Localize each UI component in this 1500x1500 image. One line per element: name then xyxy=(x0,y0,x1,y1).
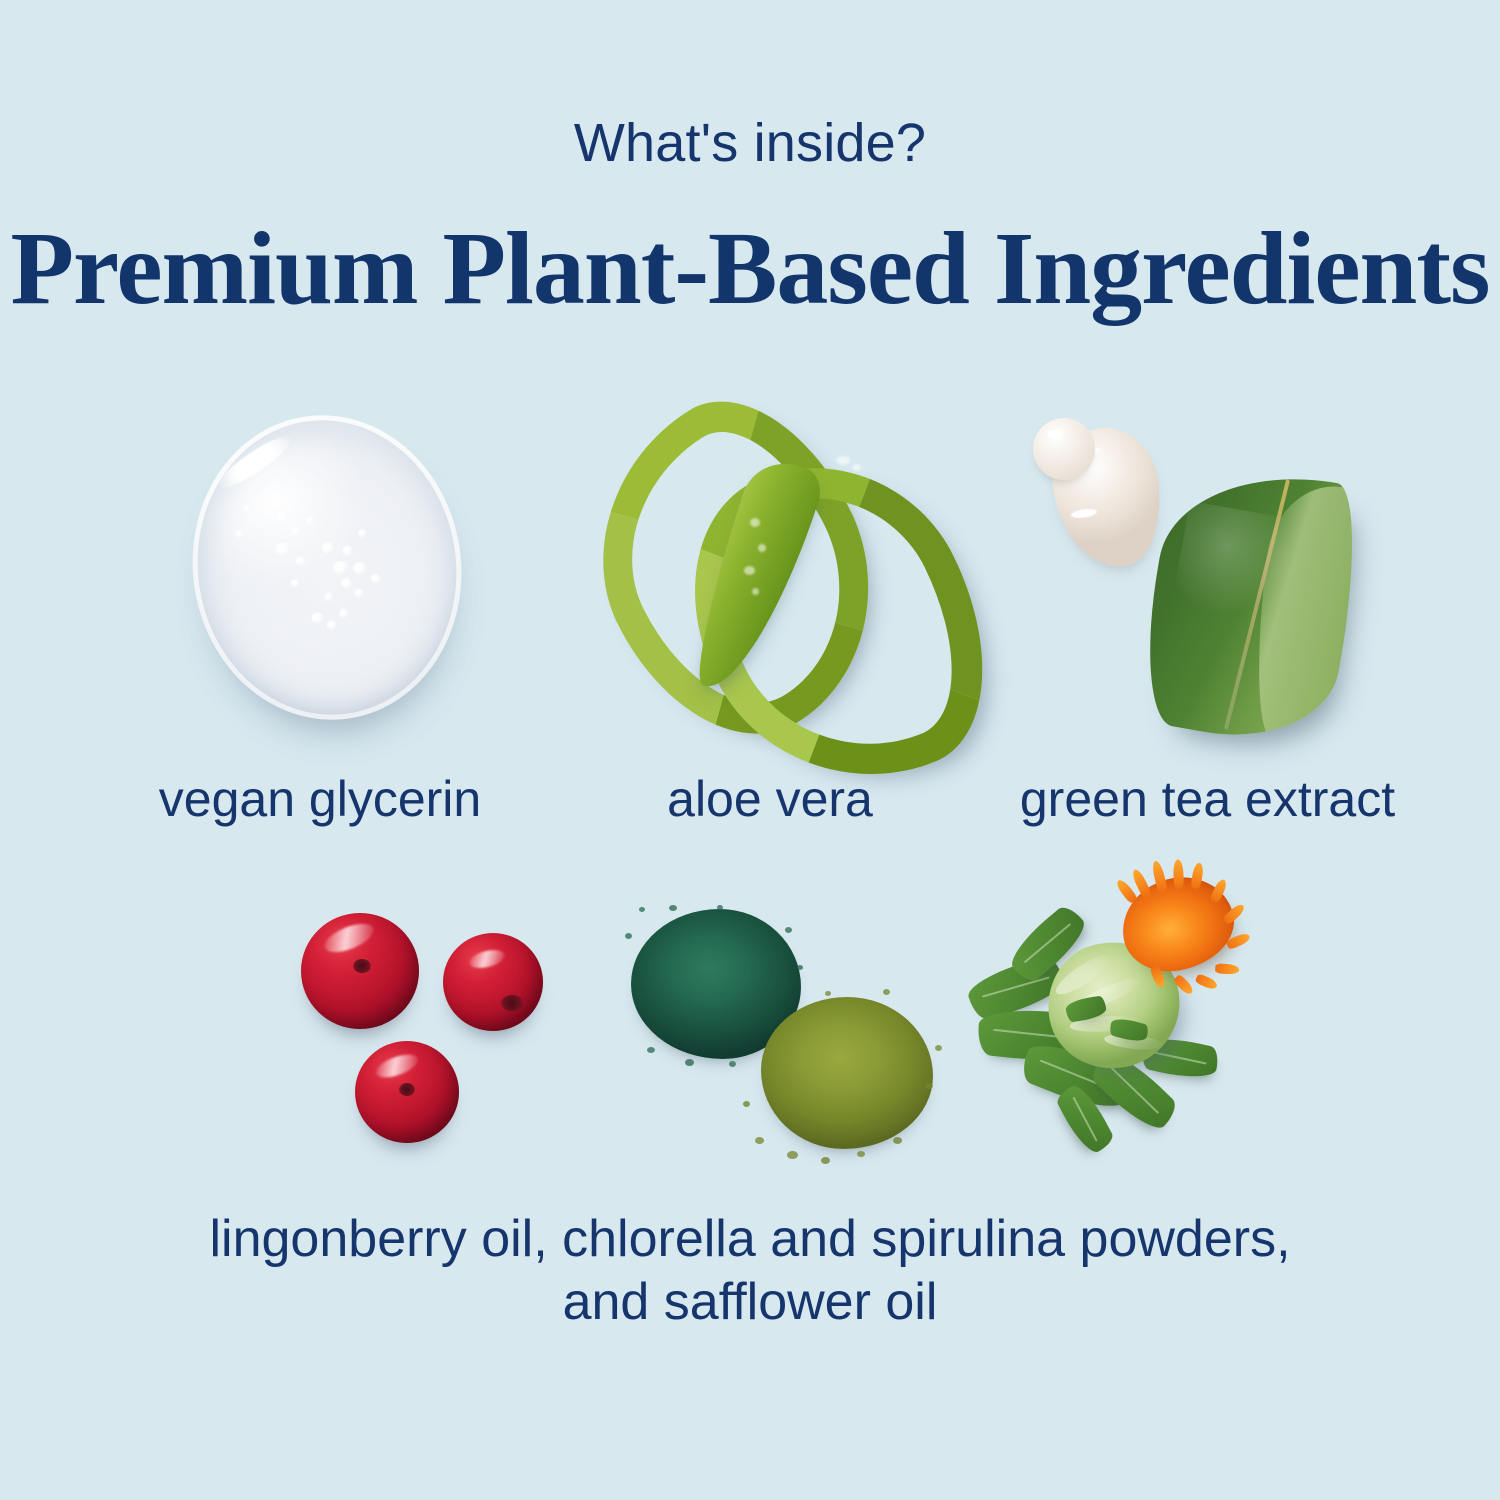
page-title: Premium Plant-Based Ingredients xyxy=(0,214,1500,323)
bottom-caption: lingonberry oil, chlorella and spirulina… xyxy=(70,1208,1430,1335)
chlorella-and-spirulina-powders-image xyxy=(625,905,945,1175)
glycerin-droplet-image xyxy=(185,405,475,735)
caption-line-1: lingonberry oil, chlorella and spirulina… xyxy=(70,1208,1430,1271)
safflower-bud-image xyxy=(960,870,1270,1170)
caption-line-2: and safflower oil xyxy=(70,1271,1430,1334)
lingonberries-image xyxy=(295,905,595,1155)
ingredient-label-vegan-glycerin: vegan glycerin xyxy=(60,770,580,828)
ingredient-label-green-tea-extract: green tea extract xyxy=(955,770,1460,828)
green-tea-leaf-and-extract-drops-image xyxy=(1025,412,1400,757)
ingredients-infographic: What's inside? Premium Plant-Based Ingre… xyxy=(0,0,1500,1500)
aloe-vera-slices-image xyxy=(600,398,930,728)
eyebrow-text: What's inside? xyxy=(0,112,1500,174)
ingredient-label-aloe-vera: aloe vera xyxy=(580,770,960,828)
